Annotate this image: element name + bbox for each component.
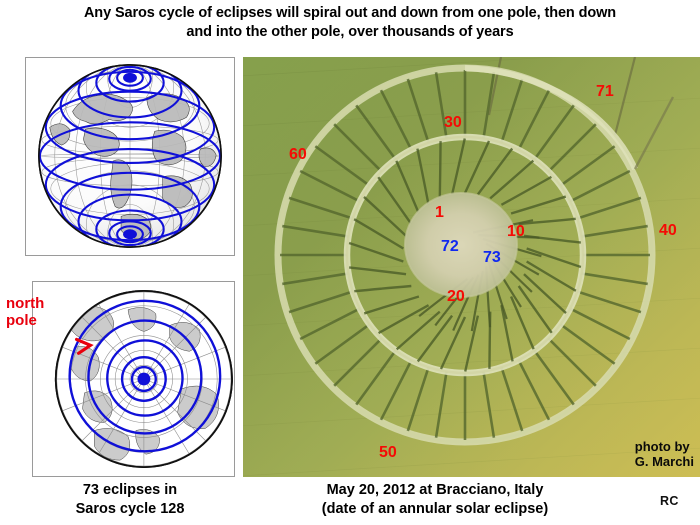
north-polar-projection-icon: [33, 282, 234, 476]
segment-label-20: 20: [447, 289, 465, 305]
author-initials: RC: [660, 494, 679, 508]
photo-caption-line-2: (date of an annular solar eclipse): [322, 501, 548, 517]
left-caption-line-1: 73 eclipses in: [83, 482, 177, 498]
photo-credit-line-2: G. Marchi: [635, 454, 694, 469]
segment-label-50: 50: [379, 445, 397, 461]
segment-label-40: 40: [659, 223, 677, 239]
segment-label-71: 71: [596, 84, 614, 100]
photo-credit-line-1: photo by: [635, 439, 694, 454]
page-title-line-1: Any Saros cycle of eclipses will spiral …: [0, 4, 700, 23]
page-title: Any Saros cycle of eclipses will spiral …: [0, 4, 700, 42]
globe-diagram-panel: [25, 57, 235, 256]
north-pole-annotation-line-2: pole: [6, 312, 37, 329]
left-caption: 73 eclipses in Saros cycle 128: [20, 481, 240, 519]
globe-orthographic-icon: [26, 58, 234, 255]
crop-circle-graphic: [243, 57, 700, 477]
polar-diagram-panel: [32, 281, 235, 477]
segment-label-30: 30: [444, 115, 462, 131]
north-pole-annotation-line-1: north: [6, 295, 44, 312]
north-pole-annotation: north pole: [6, 295, 44, 329]
photo-caption-line-1: May 20, 2012 at Bracciano, Italy: [327, 482, 544, 498]
segment-label-72: 72: [441, 239, 459, 255]
left-caption-line-2: Saros cycle 128: [76, 501, 185, 517]
page-title-line-2: and into the other pole, over thousands …: [0, 23, 700, 42]
photo-caption: May 20, 2012 at Bracciano, Italy (date o…: [255, 481, 615, 519]
segment-label-60: 60: [289, 147, 307, 163]
crop-circle-photo: 71 30 60 1 40 10 72 73 20 50 photo by G.…: [243, 57, 700, 477]
segment-label-10: 10: [507, 224, 525, 240]
photo-credit: photo by G. Marchi: [635, 439, 694, 469]
page-root: Any Saros cycle of eclipses will spiral …: [0, 0, 700, 525]
segment-label-1: 1: [435, 205, 444, 221]
segment-label-73: 73: [483, 250, 501, 266]
